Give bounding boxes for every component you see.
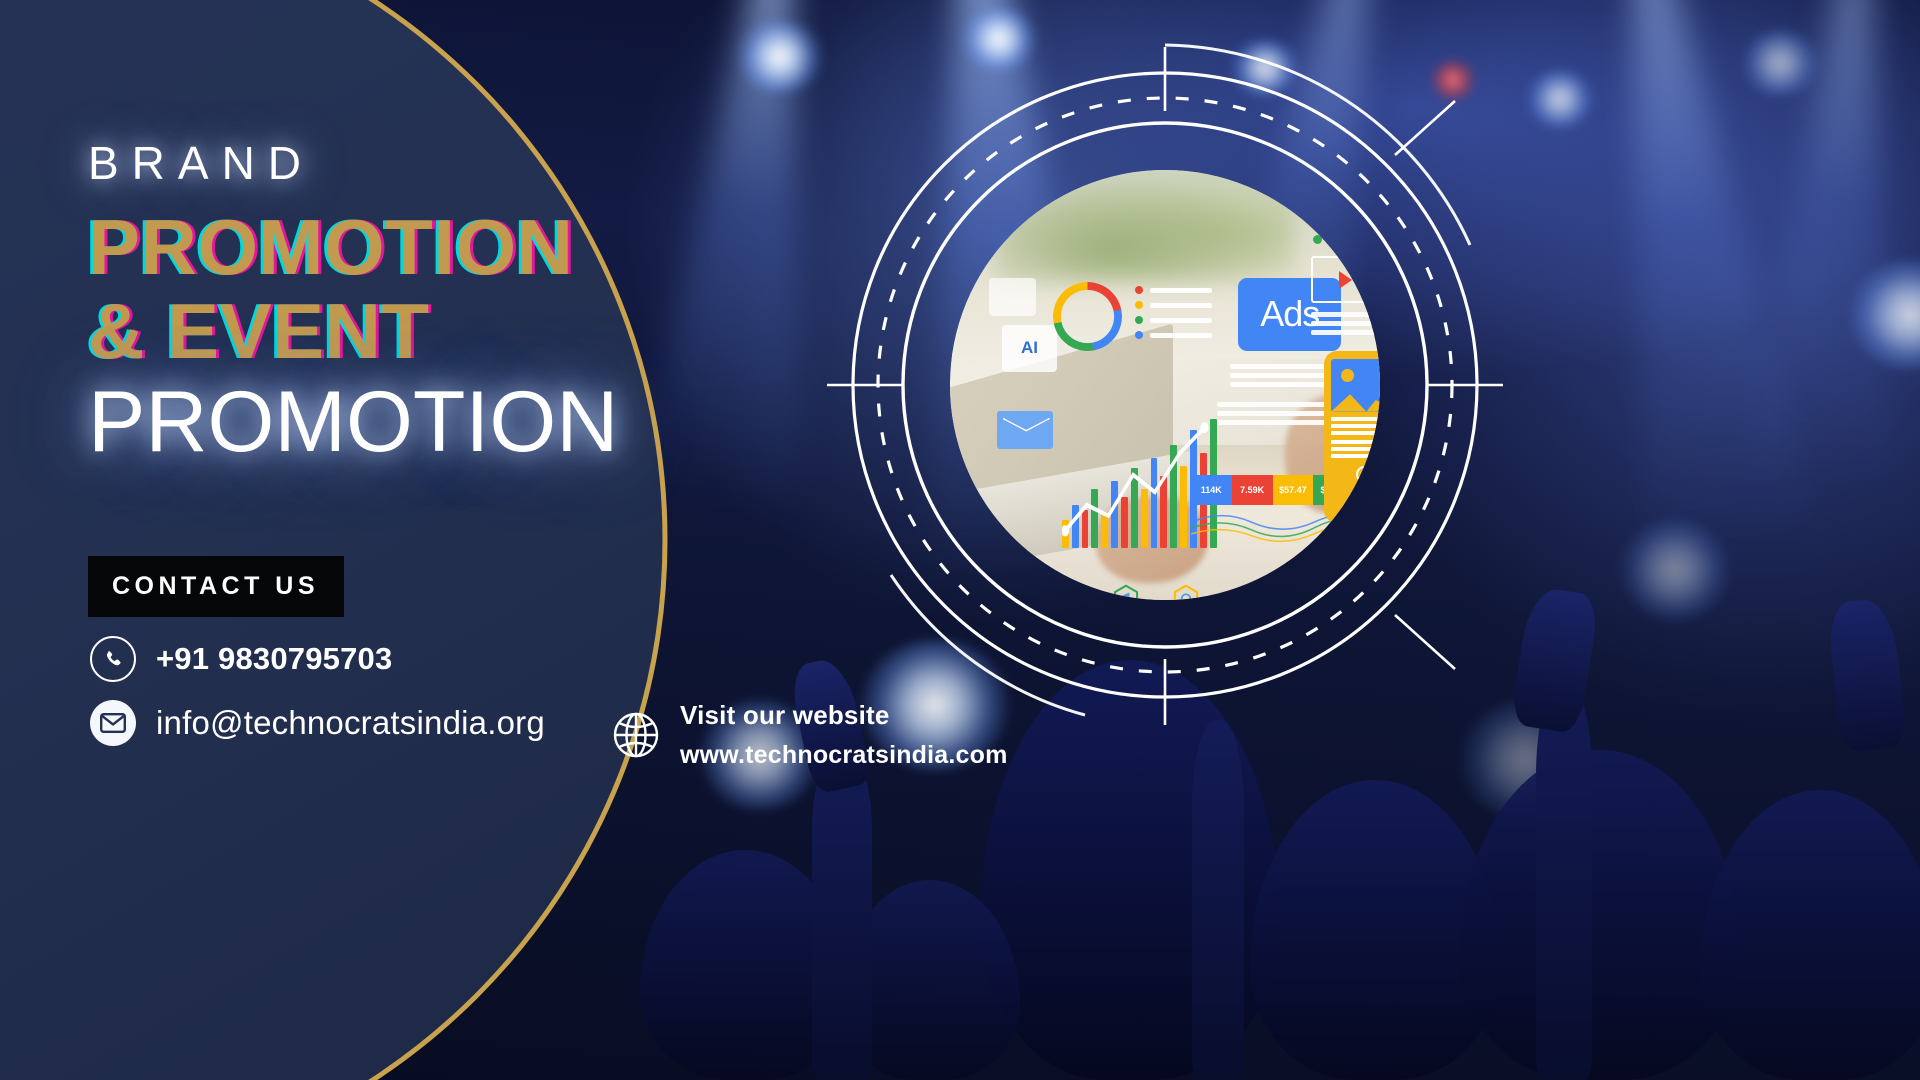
browser-window-bar [1182,230,1354,249]
phone-number: +91 9830795703 [156,641,392,677]
legend-item [1135,286,1212,294]
magnifier-icon [1356,466,1373,483]
headline-kicker: BRAND [88,140,748,186]
cloud-icon [1294,584,1320,600]
share-icon [1173,584,1199,600]
legend-item [1135,316,1212,324]
email-address: info@technocratsindia.org [156,704,545,742]
legend-item [1135,331,1212,339]
raised-hand [1826,597,1907,753]
browser-dot [1313,235,1322,244]
play-icon [1339,271,1352,289]
raised-arm [1536,680,1592,1080]
mobile-ad-mockup [1324,351,1380,523]
headline-gold-2: & EVENT [88,292,748,372]
phone-text-lines [1331,417,1380,435]
stat-chip: 114K [1191,475,1232,505]
email-contact-row[interactable]: info@technocratsindia.org [90,700,545,746]
contact-us-badge[interactable]: CONTACT US [88,556,344,617]
headline-group: BRAND PROMOTION & EVENT PROMOTION [88,140,748,467]
digital-marketing-circle: AI Ads [855,75,1475,695]
stat-chip: 7.59K [1232,475,1273,505]
image-placeholder-icon [1331,359,1380,412]
megaphone-icon [1113,584,1139,600]
headline-gold-1: PROMOTION [88,208,748,288]
legend-list [1135,286,1212,339]
browser-dot [1327,235,1336,244]
target-icon [1053,584,1079,600]
location-icon [1234,584,1260,600]
promo-banner: BRAND PROMOTION & EVENT PROMOTION CONTAC… [0,0,1920,1080]
raised-arm [812,750,872,1080]
globe-icon [610,709,662,761]
photo-plants [993,170,1294,282]
crowd-head [1460,750,1740,1080]
envelope-icon [90,700,136,746]
browser-dot [1341,235,1350,244]
stage-light [1525,70,1595,128]
crowd-head [1700,790,1920,1080]
donut-chart [1053,282,1122,351]
raised-arm [1192,720,1244,1080]
email-marketing-icon [997,411,1053,450]
stage-light [1740,30,1820,96]
stat-chip: $57.47 [1273,475,1314,505]
video-text-lines [1311,312,1376,335]
hex-icon-row [1053,584,1320,600]
phone-icon [90,636,136,682]
headline-white: PROMOTION [88,379,748,467]
video-ad-card [1311,256,1380,303]
tech-photo-circle: AI Ads [950,170,1380,600]
ai-badge: AI [1002,325,1058,372]
legend-item [1135,301,1212,309]
mini-card [989,278,1036,317]
phone-contact-row[interactable]: +91 9830795703 [90,636,392,682]
phone-text-lines [1331,440,1380,458]
